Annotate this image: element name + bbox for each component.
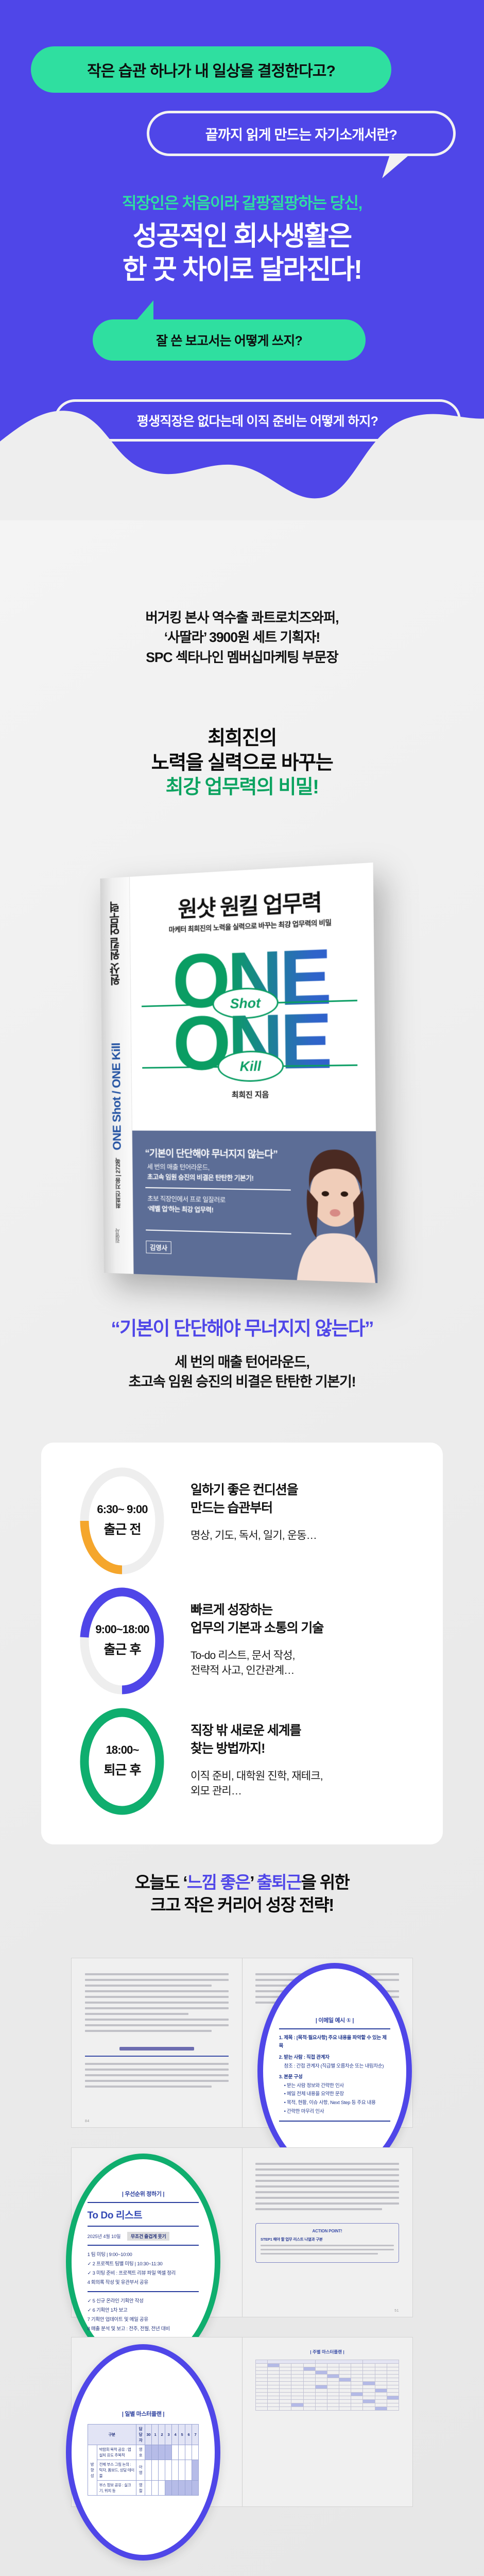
- spread-1-item-6: • 메일 전체 내용을 요약한 문장: [279, 2090, 391, 2099]
- book-front-cover: 원샷 원킬 업무력 마케터 최희진의 노력을 실력으로 바꾸는 최강 업무력의 …: [130, 862, 377, 1283]
- th-d1: 1: [152, 2424, 159, 2445]
- spread-1-zoom-oval: | 이메일 예시 ① | 1. 제목 : [목적·필요사항] 주요 내용을 파악…: [257, 1963, 412, 2179]
- speech-bubble-3-text: 잘 쓴 보고서는 어떻게 쓰지?: [156, 331, 302, 349]
- timeline-head-2a: 빠르게 성장하는: [191, 1603, 272, 1617]
- obi-line-1b: 초고속 임원 승진의 비결은 탄탄한 기본기!: [147, 1173, 254, 1182]
- main-title-line-3: 최강 업무력의 비밀!: [0, 775, 484, 800]
- main-title-line-2: 노력을 실력으로 바꾸는: [0, 751, 484, 776]
- spread-1-item-3: 참조 : 간접 관계자 (직급별 오름차순 또는 내림차순): [279, 2062, 391, 2071]
- table-header-row: 구분 담당자 30 1 2 3 4 5 6 7: [88, 2424, 199, 2445]
- spread-3-zoom-oval: | 일별 마스터플랜 | 구분 담당자 30 1 2 3 4 5 6 7: [66, 2344, 220, 2561]
- obi-line-2a: 초보 직장인에서 프로 일잘러로: [147, 1195, 226, 1204]
- timeline-when-2: 출근 후: [77, 1639, 167, 1658]
- credential-line-2: ‘사딸라’ 3900원 세트 기획자!: [0, 628, 484, 647]
- spread-3-masterplan-table: 구분 담당자 30 1 2 3 4 5 6 7 방향성 박람회 목적 공유 : …: [88, 2424, 199, 2496]
- spread-3-oval-title: | 일별 마스터플랜 |: [88, 2410, 199, 2418]
- strategy-line-1: 오늘도 ‘느낌 좋은’ 출퇴근을 위한: [0, 1871, 484, 1894]
- spread-2-step-1: STEP1 해야 할 업무 리스트 나열과 구분: [261, 2236, 394, 2242]
- timeline-row-3: 18:00~ 퇴근 후 직장 밖 새로운 세계를 찾는 방법까지! 이직 준비,…: [41, 1706, 443, 1817]
- strategy-hi-2: 출퇴근: [256, 1873, 301, 1892]
- book-cover-author: 최희진 지음: [132, 1088, 375, 1100]
- timeline-desc-3: 이직 준비, 대학원 진학, 재테크, 외모 관리…: [191, 1769, 427, 1799]
- book-detail-page: 작은 습관 하나가 내 일상을 결정한다고? 끝까지 읽게 만드는 자기소개서란…: [0, 0, 484, 2576]
- credential-line-1: 버거킹 본사 역수출 콰트로치즈와퍼,: [0, 608, 484, 628]
- book-3d: 원샷 원킬 업무력 ONE Shot / ONE Kill 최희진 지음 | 2…: [100, 862, 377, 1283]
- strategy-post: 을 위한: [301, 1873, 350, 1892]
- obi-rule-1: [145, 1187, 290, 1191]
- timeline-text-1: 일하기 좋은 컨디션을 만드는 습관부터 명상, 기도, 독서, 일기, 운동…: [191, 1481, 427, 1543]
- spread-1-item-2: 2. 받는 사람 : 직접 관계자: [279, 2054, 391, 2062]
- obi-line-1a: 세 번의 매출 턴어라운드,: [147, 1163, 210, 1171]
- timeline-when-3: 퇴근 후: [77, 1760, 167, 1778]
- strategy-mid: ’: [250, 1873, 256, 1892]
- spread-2-task-4: 4 회의록 작성 및 유관부서 공유: [88, 2278, 199, 2287]
- timeline-card: 6:30~ 9:00 출근 전 일하기 좋은 컨디션을 만드는 습관부터 명상,…: [41, 1443, 443, 1844]
- timeline-text-2: 빠르게 성장하는 업무의 기본과 소통의 기술 To-do 리스트, 문서 작성…: [191, 1601, 427, 1679]
- spread-2-page-right: 51: [394, 2309, 399, 2313]
- th-d30: 30: [145, 2424, 152, 2445]
- timeline-time-2: 9:00~18:00: [77, 1623, 167, 1636]
- td-group: 방향성: [88, 2445, 97, 2495]
- spread-2-todo-title: To Do 리스트: [88, 2208, 199, 2222]
- td-owner-1: 영호: [136, 2445, 145, 2460]
- timeline-row-2: 9:00~18:00 출근 후 빠르게 성장하는 업무의 기본과 소통의 기술 …: [41, 1586, 443, 1697]
- hero-section: 작은 습관 하나가 내 일상을 결정한다고? 끝까지 읽게 만드는 자기소개서란…: [0, 0, 484, 520]
- timeline-head-3b: 찾는 방법까지!: [191, 1741, 265, 1756]
- spread-1-left-heading: [119, 2047, 194, 2050]
- hero-green-line: 직장인은 처음이라 갈팡질팡하는 당신,: [0, 195, 484, 213]
- author-credential: 버거킹 본사 역수출 콰트로치즈와퍼, ‘사딸라’ 3900원 세트 기획자! …: [0, 608, 484, 667]
- timeline-desc-2b: 전략적 사고, 인간관계…: [191, 1665, 294, 1676]
- spread-2-action-point: ACTION POINT!: [261, 2229, 394, 2233]
- spread-2-task-6: ✓ 6 기획안 1차 보고: [88, 2306, 199, 2315]
- obi-publisher: 김영사: [146, 1241, 171, 1254]
- pull-quote-sub: 세 번의 매출 턴어라운드, 초고속 임원 승진의 비결은 탄탄한 기본기!: [0, 1352, 484, 1392]
- timeline-when-1: 출근 전: [77, 1519, 167, 1538]
- spread-1-item-8: • 간략한 마무리 인사: [279, 2108, 391, 2116]
- spread-2-oval-title: | 우선순위 정하기 |: [88, 2190, 199, 2198]
- speech-bubble-2-tail: [382, 154, 411, 178]
- hero-bottom-wave: [0, 376, 484, 520]
- th-d4: 4: [172, 2424, 179, 2445]
- timeline-desc-2a: To-do 리스트, 문서 작성,: [191, 1650, 295, 1662]
- spread-2-oval-content: | 우선순위 정하기 | To Do 리스트 2025년 4월 10일 무조건 …: [88, 2184, 199, 2338]
- timeline-head-1: 일하기 좋은 컨디션을 만드는 습관부터: [191, 1481, 427, 1517]
- timeline-head-1b: 만드는 습관부터: [191, 1501, 272, 1515]
- strategy-line-2: 크고 작은 커리어 성장 전략!: [0, 1894, 484, 1917]
- spread-2-task-3: ✓ 3 미팅 준비 : 프로젝트 리뷰 파일 엑셀 정리: [88, 2269, 199, 2278]
- timeline-head-3: 직장 밖 새로운 세계를 찾는 방법까지!: [191, 1722, 427, 1757]
- obi-line-1: 세 번의 매출 턴어라운드, 초고속 임원 승진의 비결은 탄탄한 기본기!: [147, 1162, 254, 1184]
- speech-bubble-1: 작은 습관 하나가 내 일상을 결정한다고?: [31, 46, 391, 93]
- spread-2-date: 2025년 4월 10일: [88, 2233, 121, 2240]
- main-title: 최희진의 노력을 실력으로 바꾸는 최강 업무력의 비밀!: [0, 726, 484, 800]
- pull-quote: “기본이 단단해야 무너지지 않는다”: [0, 1313, 484, 1341]
- th-category: 구분: [88, 2424, 136, 2445]
- timeline-desc-1: 명상, 기도, 독서, 일기, 운동…: [191, 1528, 427, 1543]
- timeline-head-1a: 일하기 좋은 컨디션을: [191, 1483, 298, 1497]
- speech-bubble-3: 잘 쓴 보고서는 어떻게 쓰지?: [93, 319, 366, 361]
- spread-2-chip: 무조건 즐겁게 웃기: [127, 2232, 170, 2241]
- td-owner-3: 영철: [136, 2480, 145, 2495]
- hero-white-line-1: 성공적인 회사생활은: [0, 222, 484, 251]
- timeline-desc-2: To-do 리스트, 문서 작성, 전략적 사고, 인간관계…: [191, 1648, 427, 1679]
- pull-quote-sub-2: 초고속 임원 승진의 비결은 탄탄한 기본기!: [0, 1372, 484, 1392]
- th-d3: 3: [165, 2424, 172, 2445]
- spread-1-left-page: 84: [72, 1958, 242, 2127]
- strategy-pre: 오늘도 ‘: [135, 1873, 187, 1892]
- book-spine-author: 최희진 지음 | 272쪽: [113, 1158, 122, 1209]
- timeline-head-2: 빠르게 성장하는 업무의 기본과 소통의 기술: [191, 1601, 427, 1637]
- spread-3-right-page: | 주별 마스터플랜 |: [242, 2337, 412, 2506]
- book-spine-publisher: 김영사: [114, 1228, 122, 1243]
- spread-2-task-2: ✓ 2 프로젝트 팀별 미팅 | 10:30~11:30: [88, 2260, 199, 2269]
- table-row: 방향성 박람회 목적 공유 : 앱 설치 유도 주목적 영호: [88, 2445, 199, 2460]
- main-title-line-1: 최희진의: [0, 726, 484, 751]
- timeline-time-3: 18:00~: [77, 1743, 167, 1757]
- content-section: 버거킹 본사 역수출 콰트로치즈와퍼, ‘사딸라’ 3900원 세트 기획자! …: [0, 520, 484, 2576]
- spread-2-task-8: 8 매출 분석 및 보고 : 전주, 전월, 전년 대비: [88, 2325, 199, 2334]
- timeline-desc-3b: 외모 관리…: [191, 1785, 241, 1797]
- obi-line-2b: ‘레벨 업’하는 최강 업무력!: [147, 1205, 213, 1214]
- timeline-head-3a: 직장 밖 새로운 세계를: [191, 1723, 301, 1738]
- th-d7: 7: [192, 2424, 199, 2445]
- spread-2-right-page: ACTION POINT! STEP1 해야 할 업무 리스트 나열과 구분 5…: [242, 2148, 412, 2317]
- hero-white-line-2: 한 끗 차이로 달라진다!: [0, 255, 484, 285]
- spread-3-oval-content: | 일별 마스터플랜 | 구분 담당자 30 1 2 3 4 5 6 7: [88, 2404, 199, 2501]
- table-row: 부스 정보 공유 : 실크기, 위치 등 영철: [88, 2480, 199, 2495]
- th-d5: 5: [179, 2424, 185, 2445]
- td-task-2: 전체 부스 그림 논의 : 탁자, 폼보드, 상담 테이블: [97, 2460, 136, 2480]
- book-cover-figure: 원샷 원킬 업무력 ONE Shot / ONE Kill 최희진 지음 | 2…: [0, 860, 484, 1293]
- table-row: 전체 부스 그림 논의 : 탁자, 폼보드, 상담 테이블 아영: [88, 2460, 199, 2480]
- book-spine-logo: ONE Shot / ONE Kill: [110, 1043, 124, 1150]
- timeline-row-1: 6:30~ 9:00 출근 전 일하기 좋은 컨디션을 만드는 습관부터 명상,…: [41, 1466, 443, 1577]
- spread-1-item-1: 1. 제목 : [목적·필요사항] 주요 내용을 파악할 수 있는 제목: [279, 2034, 391, 2051]
- book-spine-title: 원샷 원킬 업무력: [107, 901, 124, 986]
- timeline-time-1: 6:30~ 9:00: [77, 1503, 167, 1516]
- credential-line-3: SPC 섹타나인 멤버십마케팅 부문장: [0, 648, 484, 667]
- timeline-text-3: 직장 밖 새로운 세계를 찾는 방법까지! 이직 준비, 대학원 진학, 재테크…: [191, 1722, 427, 1799]
- obi-line-2: 초보 직장인에서 프로 일잘러로 ‘레벨 업’하는 최강 업무력!: [147, 1194, 226, 1216]
- book-spine: 원샷 원킬 업무력 ONE Shot / ONE Kill 최희진 지음 | 2…: [100, 877, 133, 1274]
- spread-1-page-left: 84: [85, 2120, 90, 2123]
- spread-1-oval-title: | 이메일 예시 ① |: [279, 2016, 391, 2024]
- speech-bubble-1-text: 작은 습관 하나가 내 일상을 결정한다고?: [87, 58, 335, 81]
- spread-3-right-title: | 주별 마스터플랜 |: [255, 2349, 399, 2355]
- th-d2: 2: [159, 2424, 165, 2445]
- strategy-hi-1: 느낌 좋은: [187, 1873, 250, 1892]
- th-owner: 담당자: [136, 2424, 145, 2445]
- obi-quote: “기본이 단단해야 무너지지 않는다”: [145, 1146, 278, 1161]
- strategy-headline: 오늘도 ‘느낌 좋은’ 출퇴근을 위한 크고 작은 커리어 성장 전략!: [0, 1871, 484, 1917]
- spread-1-oval-content: | 이메일 예시 ① | 1. 제목 : [목적·필요사항] 주요 내용을 파악…: [279, 2011, 391, 2132]
- obi-rule-2: [146, 1229, 291, 1234]
- obi-portrait-icon: [288, 1139, 377, 1283]
- timeline-desc-3a: 이직 준비, 대학원 진학, 재테크,: [191, 1770, 323, 1782]
- th-d6: 6: [185, 2424, 192, 2445]
- timeline-head-2b: 업무의 기본과 소통의 기술: [191, 1621, 323, 1635]
- speech-bubble-3-tail: [135, 300, 153, 322]
- pull-quote-sub-1: 세 번의 매출 턴어라운드,: [0, 1352, 484, 1372]
- td-owner-2: 아영: [136, 2460, 145, 2480]
- spread-1-item-4: 3. 본문 구성: [279, 2073, 391, 2082]
- spread-1-item-7: • 목적, 현황, 이슈 사항, Next Step 등 주요 내용: [279, 2099, 391, 2108]
- speech-bubble-2: 끝까지 읽게 만드는 자기소개서란?: [147, 111, 456, 156]
- td-task-3: 부스 정보 공유 : 실크기, 위치 등: [97, 2480, 136, 2495]
- spread-2-task-7: 7 기획안 업데이트 및 메일 공유: [88, 2315, 199, 2325]
- td-task-1: 박람회 목적 공유 : 앱 설치 유도 주목적: [97, 2445, 136, 2460]
- spread-3-mini-gantt: [255, 2360, 399, 2411]
- book-cover-obi-band: “기본이 단단해야 무너지지 않는다” 세 번의 매출 턴어라운드, 초고속 임…: [132, 1130, 377, 1283]
- spread-2-task-5: ✓ 5 신규 온라인 기획안 작성: [88, 2297, 199, 2306]
- speech-bubble-2-text: 끝까지 읽게 만드는 자기소개서란?: [205, 124, 397, 144]
- spread-1-item-5: • 받는 사람 정보와 간략한 인사: [279, 2082, 391, 2091]
- spread-2-task-1: 1 팀 미팅 | 9:00~10:00: [88, 2250, 199, 2260]
